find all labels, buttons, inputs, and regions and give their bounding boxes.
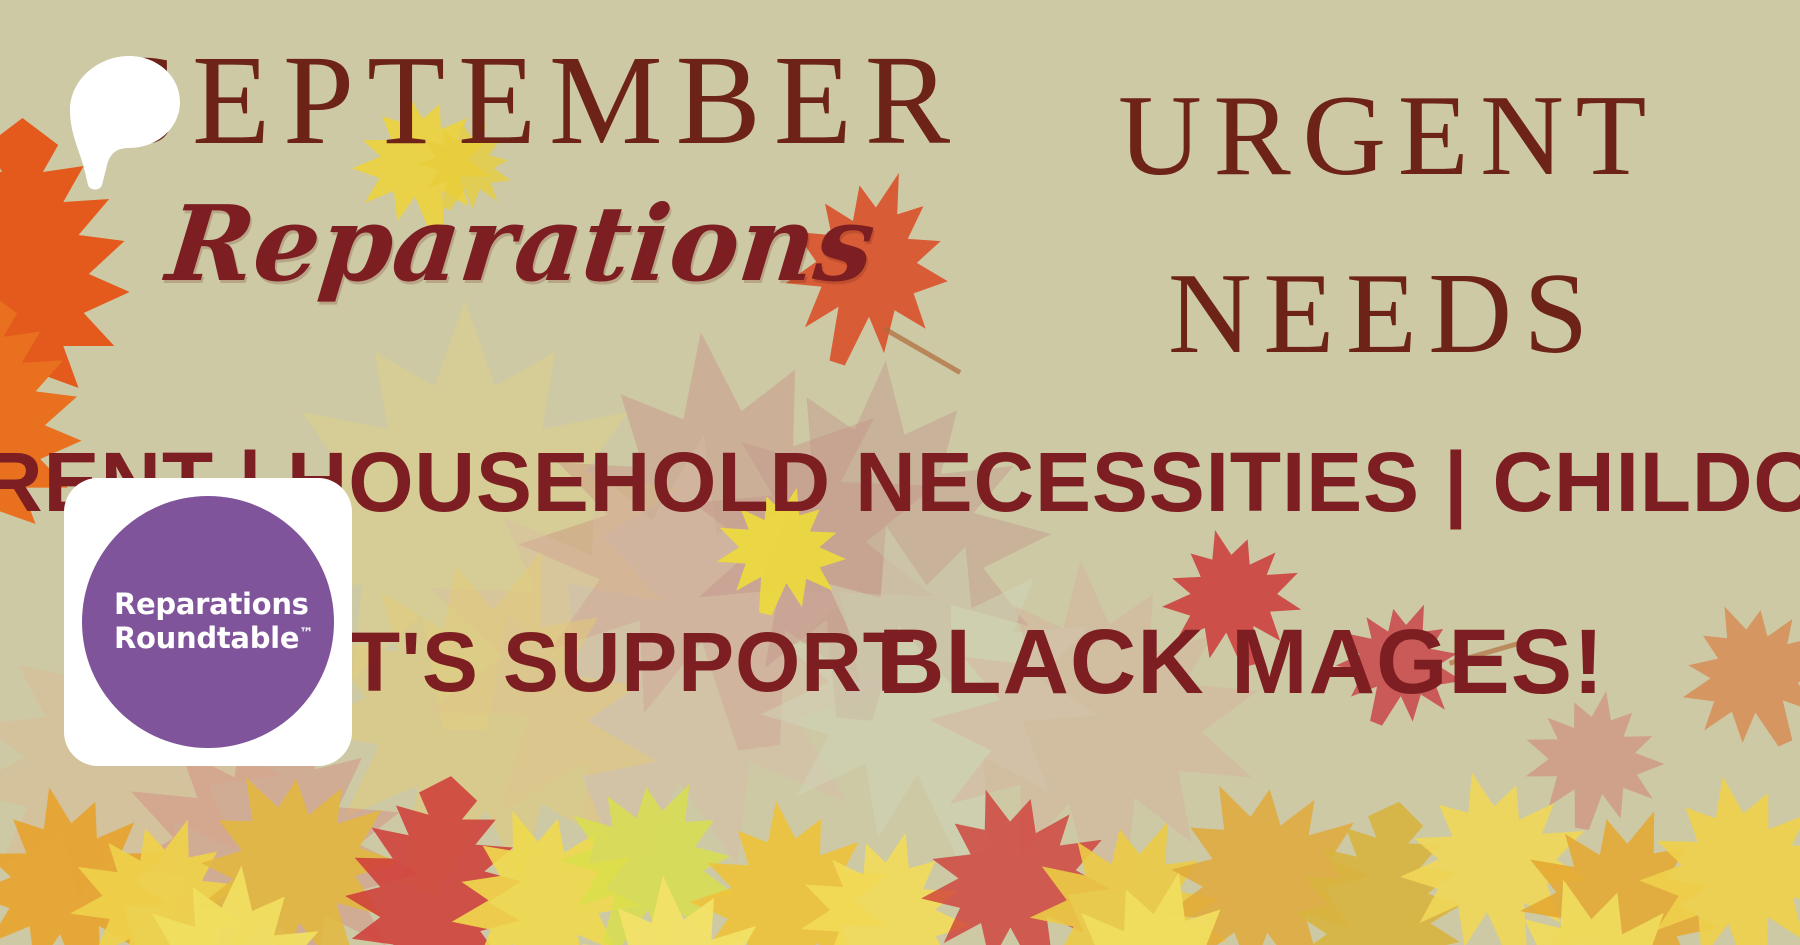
- banner-needs-line: NEEDS: [1168, 256, 1600, 372]
- patreon-logo-icon[interactable]: [68, 52, 180, 190]
- banner-month-heading: SEPTEMBER: [108, 36, 963, 164]
- avatar[interactable]: Reparations Roundtable™: [64, 478, 352, 766]
- avatar-name-line-1: Reparations: [114, 588, 309, 622]
- banner-script-word: Reparations: [163, 192, 880, 296]
- decor-leaf-stem-falling: [883, 326, 962, 374]
- avatar-circle: Reparations Roundtable™: [82, 496, 334, 748]
- banner-urgent-line: URGENT: [1118, 78, 1658, 194]
- avatar-name-line-2: Roundtable™: [114, 622, 313, 656]
- cover-banner: SEPTEMBER Reparations URGENT NEEDS RENT …: [0, 0, 1800, 945]
- avatar-name-line-2-text: Roundtable: [114, 621, 299, 655]
- decor-bottom-leaf-band: [0, 745, 1800, 945]
- banner-cta-black-mages: BLACK MAGES!: [878, 616, 1605, 708]
- trademark-symbol: ™: [299, 625, 313, 641]
- banner-cta-support: ET'S SUPPORT: [292, 620, 915, 704]
